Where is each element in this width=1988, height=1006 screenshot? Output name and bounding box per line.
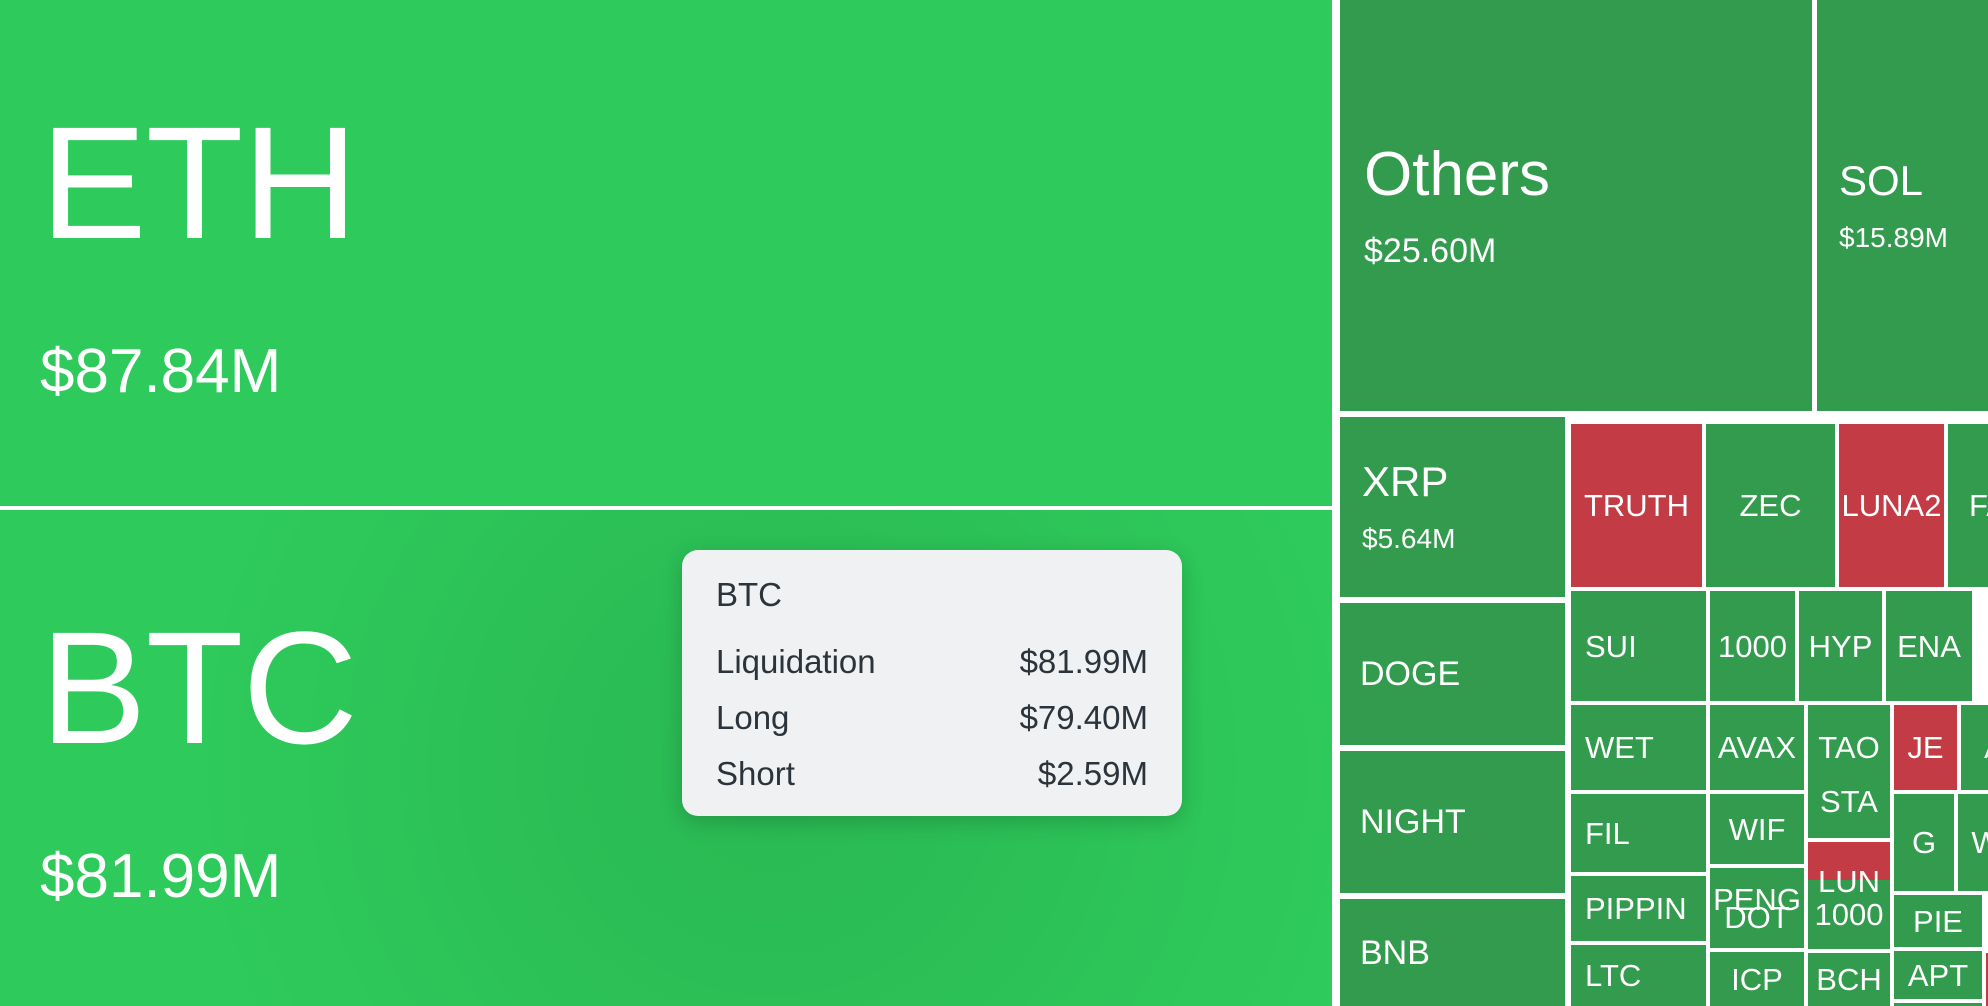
tile-label: DOGE bbox=[1340, 657, 1565, 691]
treemap-tile-ltc[interactable]: LTC bbox=[1571, 945, 1706, 1006]
tile-label: ZEC bbox=[1734, 490, 1808, 521]
tile-label: ETH bbox=[0, 103, 1332, 263]
tooltip-row: Liquidation $81.99M bbox=[716, 645, 1148, 701]
treemap-tile-1000-a[interactable]: 1000 bbox=[1710, 591, 1795, 701]
tooltip: BTC Liquidation $81.99M Long $79.40M Sho… bbox=[682, 550, 1182, 816]
tile-label: W bbox=[1965, 827, 1988, 858]
tile-label: NIGHT bbox=[1340, 805, 1565, 839]
treemap-tile-pippin[interactable]: PIPPIN bbox=[1571, 876, 1706, 941]
tile-label: HYP bbox=[1803, 631, 1879, 662]
treemap-tile-fa[interactable]: FA bbox=[1948, 424, 1988, 587]
tooltip-table: Liquidation $81.99M Long $79.40M Short $… bbox=[716, 645, 1148, 790]
tooltip-key: Short bbox=[716, 757, 993, 790]
tooltip-row: Short $2.59M bbox=[716, 757, 1148, 790]
treemap-tile-night[interactable]: NIGHT bbox=[1340, 751, 1565, 893]
tile-label: 1000 bbox=[1809, 899, 1890, 930]
tile-label: SOL bbox=[1817, 160, 1988, 202]
tile-label: TAO bbox=[1812, 732, 1885, 763]
tile-label: A bbox=[1978, 732, 1988, 763]
tile-value: $15.89M bbox=[1817, 224, 1988, 252]
treemap-tile-xrp[interactable]: XRP $5.64M bbox=[1340, 417, 1565, 597]
tile-value: $87.84M bbox=[0, 341, 1332, 403]
treemap-tile-truth[interactable]: TRUTH bbox=[1571, 424, 1702, 587]
treemap-tile-bch[interactable]: BCH bbox=[1808, 953, 1890, 1006]
treemap-tile-sol[interactable]: SOL $15.89M bbox=[1817, 0, 1988, 411]
treemap-tile-sta[interactable]: STA bbox=[1808, 765, 1890, 838]
treemap-tile-a[interactable]: A bbox=[1961, 705, 1988, 790]
treemap-tile-icp[interactable]: ICP bbox=[1710, 952, 1804, 1006]
treemap-tile-eth[interactable]: ETH $87.84M bbox=[0, 0, 1332, 506]
tooltip-value: $79.40M bbox=[993, 701, 1148, 757]
treemap-tile-g[interactable]: G bbox=[1894, 794, 1954, 891]
tooltip-key: Liquidation bbox=[716, 645, 993, 701]
liquidation-treemap[interactable]: ETH $87.84M BTC $81.99M Others $25.60M S… bbox=[0, 0, 1988, 1006]
treemap-tile-pie[interactable]: PIE bbox=[1894, 895, 1982, 947]
tile-label: G bbox=[1906, 827, 1942, 858]
tile-label: ICP bbox=[1725, 964, 1789, 995]
treemap-tile-bnb[interactable]: BNB bbox=[1340, 899, 1565, 1006]
tile-label: FIL bbox=[1571, 818, 1706, 849]
treemap-tile-avax[interactable]: AVAX bbox=[1710, 705, 1804, 790]
treemap-tile-fil[interactable]: FIL bbox=[1571, 794, 1706, 872]
tile-label: WIF bbox=[1723, 814, 1792, 845]
tile-label: AVAX bbox=[1712, 732, 1802, 763]
tile-label: STA bbox=[1814, 786, 1884, 817]
treemap-tile-w[interactable]: W bbox=[1958, 794, 1988, 891]
tile-label: APT bbox=[1902, 960, 1974, 991]
treemap-tile-je[interactable]: JE bbox=[1894, 705, 1957, 790]
treemap-tile-sui[interactable]: SUI bbox=[1571, 591, 1706, 701]
treemap-tile-doge[interactable]: DOGE bbox=[1340, 603, 1565, 745]
tile-label: LTC bbox=[1571, 960, 1706, 991]
tile-label: PIPPIN bbox=[1571, 893, 1706, 924]
treemap-tile-others[interactable]: Others $25.60M bbox=[1340, 0, 1812, 411]
tile-value: $25.60M bbox=[1340, 234, 1812, 268]
tile-label: TRUTH bbox=[1578, 490, 1695, 521]
tile-label: PIE bbox=[1907, 906, 1969, 937]
tooltip-key: Long bbox=[716, 701, 993, 757]
tile-value: $5.64M bbox=[1340, 525, 1565, 553]
tile-label: BCH bbox=[1810, 964, 1887, 995]
treemap-tile-ena[interactable]: ENA bbox=[1886, 591, 1972, 701]
tile-label: 1000 bbox=[1712, 631, 1793, 662]
treemap-tile-wif[interactable]: WIF bbox=[1710, 794, 1804, 864]
tile-label: WET bbox=[1571, 732, 1706, 763]
tile-label: BNB bbox=[1340, 936, 1565, 970]
tooltip-title: BTC bbox=[716, 578, 1148, 611]
tile-label: ENA bbox=[1891, 631, 1967, 662]
treemap-tile-apt[interactable]: APT bbox=[1894, 951, 1982, 999]
tooltip-value: $81.99M bbox=[993, 645, 1148, 701]
treemap-tile-zec[interactable]: ZEC bbox=[1706, 424, 1835, 587]
tile-label: Others bbox=[1340, 144, 1812, 206]
treemap-tile-wet[interactable]: WET bbox=[1571, 705, 1706, 790]
treemap-tile-hyp[interactable]: HYP bbox=[1799, 591, 1882, 701]
tile-value: $81.99M bbox=[0, 846, 1332, 908]
tile-label: LUNA2 bbox=[1839, 490, 1944, 521]
tooltip-value: $2.59M bbox=[993, 757, 1148, 790]
tile-label: JE bbox=[1901, 732, 1949, 763]
tile-label: SUI bbox=[1571, 631, 1706, 662]
tile-label: DOT bbox=[1718, 902, 1795, 933]
tile-label: LUN bbox=[1812, 866, 1886, 897]
tile-label: XRP bbox=[1340, 461, 1565, 503]
treemap-tile-luna2[interactable]: LUNA2 bbox=[1839, 424, 1944, 587]
tooltip-row: Long $79.40M bbox=[716, 701, 1148, 757]
tile-label: FA bbox=[1963, 490, 1988, 521]
